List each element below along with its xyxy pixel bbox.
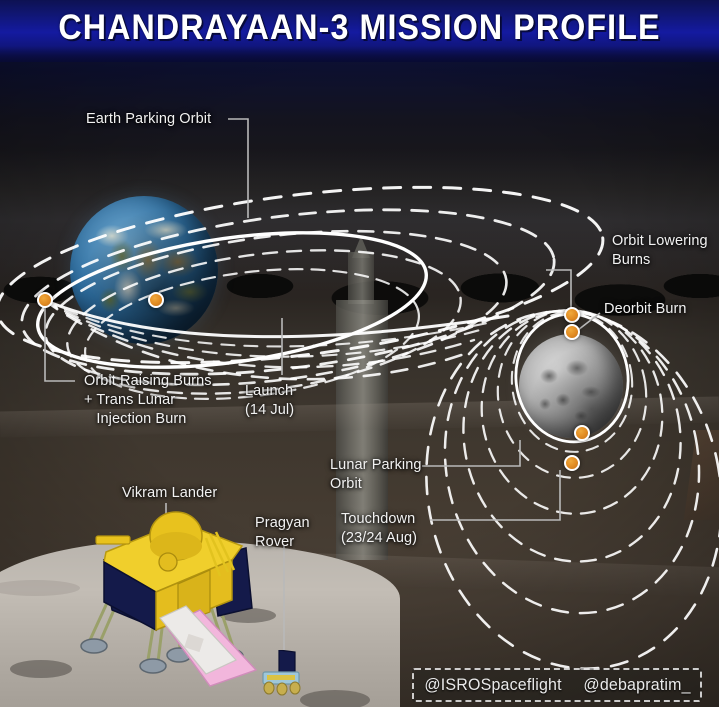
rover-solar-panel — [279, 650, 295, 674]
credit-debapratim: @debapratim_ — [583, 675, 690, 695]
label-vikram-lander: Vikram Lander — [122, 484, 217, 503]
pragyan-rover-illustration — [255, 650, 315, 696]
earth-globe — [70, 196, 218, 344]
marker-orbit-raising-burn — [37, 292, 53, 308]
marker-orbit-lowering-burn — [564, 307, 580, 323]
moon-globe — [519, 334, 623, 438]
label-orbit-raising-burns: Orbit Raising Burns + Trans Lunar Inject… — [84, 372, 212, 429]
credit-isro-spaceflight: @ISROSpaceflight — [424, 675, 561, 695]
label-deorbit-burn: Deorbit Burn — [604, 300, 687, 319]
title-banner: CHANDRAYAAN-3 MISSION PROFILE — [0, 0, 719, 62]
label-earth-parking-orbit: Earth Parking Orbit — [86, 110, 211, 129]
label-pragyan-rover: Pragyan Rover — [255, 514, 310, 552]
label-orbit-lowering-burns: Orbit Lowering Burns — [612, 232, 708, 270]
mission-profile-infographic: CHANDRAYAAN-3 MISSION PROFILE Earth Park… — [0, 0, 719, 707]
rover-ramp — [160, 606, 256, 686]
marker-lunar-parking — [574, 425, 590, 441]
marker-deorbit-burn — [564, 324, 580, 340]
rover-wheels — [264, 682, 300, 695]
page-title: CHANDRAYAAN-3 MISSION PROFILE — [29, 8, 690, 48]
marker-trans-lunar-injection — [148, 292, 164, 308]
label-launch: Launch (14 Jul) — [245, 382, 294, 420]
instrument-boom — [96, 536, 130, 544]
label-touchdown: Touchdown (23/24 Aug) — [341, 510, 417, 548]
label-lunar-parking-orbit: Lunar Parking Orbit — [330, 456, 422, 494]
thruster-nozzle — [159, 553, 177, 571]
marker-touchdown — [564, 455, 580, 471]
credits-box: @ISROSpaceflight @debapratim_ — [412, 668, 702, 702]
